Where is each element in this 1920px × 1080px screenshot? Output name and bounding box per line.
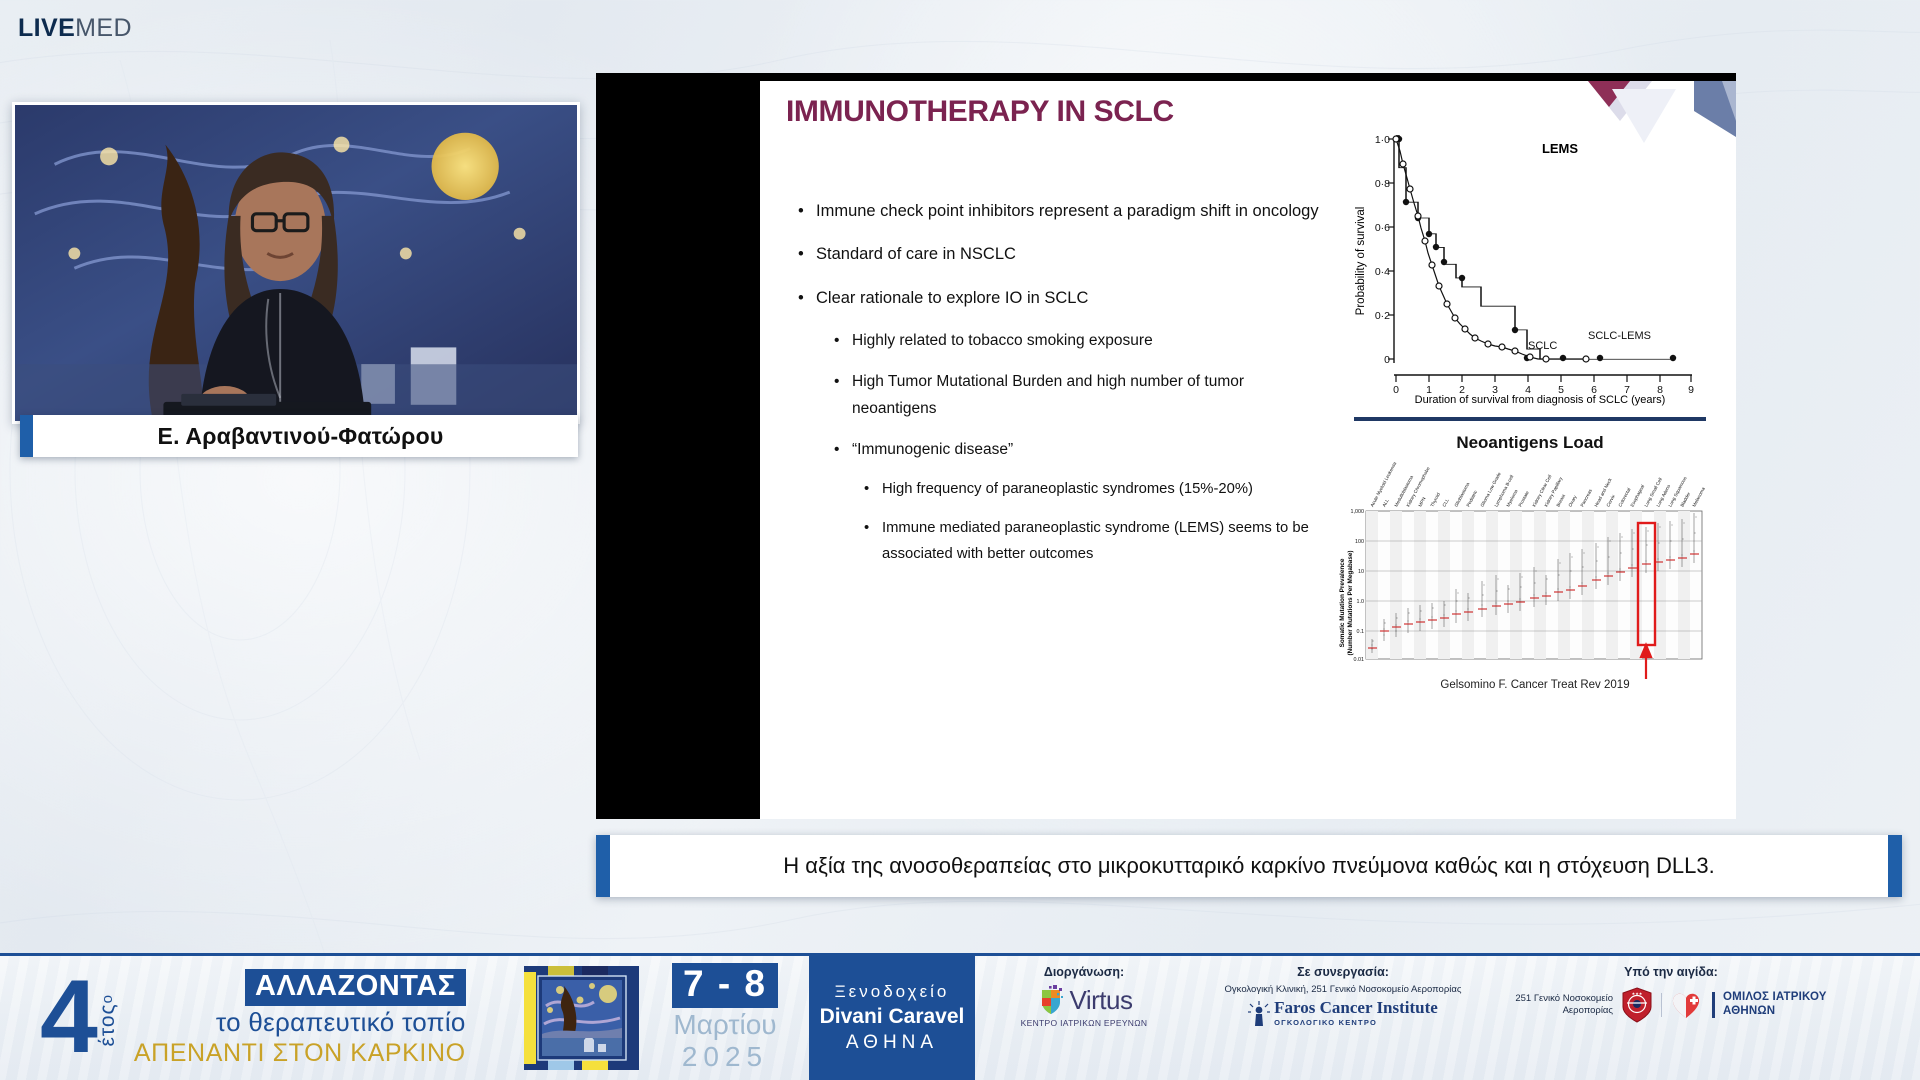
edition-word: έτοςο: [96, 990, 120, 1047]
event-date: 7 - 8 Μαρτίου 2025: [657, 963, 793, 1073]
svg-text:MPN: MPN: [1417, 496, 1426, 507]
km-markers-sclc: [1393, 136, 1589, 362]
edition-word-text: έτος: [96, 1003, 119, 1046]
video-frame: [15, 105, 577, 424]
km-ytick: 0·8: [1375, 178, 1390, 190]
bullet-item: Immune mediated paraneoplastic syndrome …: [860, 515, 1324, 568]
speaker-video[interactable]: [12, 102, 580, 424]
svg-text:★★★: ★★★: [1632, 991, 1643, 996]
km-y-axis-label: Probability of survival: [1355, 207, 1367, 316]
event-date-month: Μαρτίου: [657, 1009, 793, 1041]
slide-bullet-list: Immune check point inhibitors represent …: [794, 197, 1324, 579]
km-chart-title: LEMS: [1542, 141, 1578, 156]
event-venue: Ξενοδοχείο Divani Caravel ΑΘΗΝΑ: [809, 955, 975, 1080]
km-xtick: 2: [1459, 384, 1465, 396]
km-ytick: 0·4: [1375, 266, 1390, 278]
event-title-block: ΑΛΛΑΖΟΝΤΑΣ το θεραπευτικό τοπίο ΑΠΕΝΑΝΤΙ…: [134, 969, 466, 1068]
auspices-org1-line1: 251 Γενικό Νοσοκομείο: [1515, 993, 1613, 1005]
svg-text:Melanoma: Melanoma: [1691, 486, 1706, 508]
km-xtick: 5: [1558, 384, 1564, 396]
edition-number: 4: [40, 975, 94, 1060]
svg-text:Esophageal: Esophageal: [1629, 484, 1645, 508]
name-bar-accent: [20, 415, 33, 457]
caption-text: Η αξία της ανοσοθεραπείας στο μικροκυττα…: [610, 853, 1888, 879]
faros-lighthouse-icon: [1248, 1001, 1270, 1027]
neo-ytick: 100: [1355, 539, 1364, 545]
sponsors-area: Διοργάνωση: Virtus ΚΕΝΤΡΟ ΙΑΤΡΙΚΩΝ ΕΡΕΥΝ…: [975, 955, 1920, 1080]
bullet-item: Immune check point inhibitors represent …: [794, 197, 1324, 226]
neo-ytick: 0.1: [1357, 629, 1365, 635]
bullet-item: “Immunogenic disease”: [830, 436, 1324, 464]
brand-med: MED: [75, 14, 132, 42]
km-xtick: 4: [1525, 384, 1531, 396]
bullet-item: Highly related to tobacco smoking exposu…: [830, 327, 1324, 355]
auspices-org2-line2: ΑΘΗΝΩΝ: [1723, 1005, 1827, 1018]
caption-accent-left: [596, 835, 610, 897]
livemed-logo: LIVEMED: [18, 14, 132, 43]
svg-text:Prostate: Prostate: [1517, 490, 1530, 508]
svg-text:Ovary: Ovary: [1567, 494, 1577, 508]
starry-night-artwork: [524, 966, 639, 1070]
auspices-org1-line2: Αεροπορίας: [1515, 1005, 1613, 1017]
neo-ytick: 1,000: [1351, 509, 1365, 515]
km-annotation-sclc-lems: SCLC-LEMS: [1588, 330, 1651, 342]
event-footer: 4 έτοςο ΑΛΛΑΖΟΝΤΑΣ το θεραπευτικό τοπίο …: [0, 953, 1920, 1080]
hellenic-air-force-emblem-icon: ★★★: [1621, 987, 1653, 1023]
km-series-sclc: [1396, 139, 1586, 359]
bullet-item: High frequency of paraneoplastic syndrom…: [860, 476, 1324, 502]
bullet-item: High Tumor Mutational Burden and high nu…: [830, 368, 1324, 423]
km-markers-sclc-lems: [1396, 136, 1676, 361]
event-title-line2: το θεραπευτικό τοπίο: [134, 1007, 466, 1038]
event-date-days: 7 - 8: [672, 963, 778, 1008]
neo-category-labels: Acute Myeloid Leukemia ALL Medulloblasto…: [1369, 461, 1706, 508]
event-title-line1: ΑΛΛΑΖΟΝΤΑΣ: [245, 969, 466, 1006]
km-xtick: 1: [1426, 384, 1432, 396]
svg-text:Pediatric: Pediatric: [1465, 489, 1478, 508]
svg-text:Cervix: Cervix: [1605, 493, 1616, 507]
event-title-line3: ΑΠΕΝΑΝΤΙ ΣΤΟΝ ΚΑΡΚΙΝΟ: [134, 1039, 466, 1068]
caption-accent-right: [1888, 835, 1902, 897]
km-ytick: 0·2: [1375, 310, 1390, 322]
kaplan-meier-chart: LEMS Probability of survival Duration of…: [1350, 131, 1710, 409]
venue-label: Ξενοδοχείο: [835, 982, 950, 1002]
km-xtick: 7: [1624, 384, 1630, 396]
slide-title: IMMUNOTHERAPY IN SCLC: [786, 95, 1174, 129]
auspices-block: Υπό την αιγίδα: 251 Γενικό Νοσοκομείο Αε…: [1501, 965, 1841, 1023]
organiser-label: Διοργάνωση:: [1044, 965, 1124, 979]
km-xtick: 6: [1591, 384, 1597, 396]
session-caption-bar: Η αξία της ανοσοθεραπείας στο μικροκυττα…: [596, 835, 1902, 897]
km-xtick: 3: [1492, 384, 1498, 396]
svg-text:Kidney Chromophobe: Kidney Chromophobe: [1405, 466, 1430, 508]
svg-text:ALL: ALL: [1381, 498, 1389, 508]
auspices-label: Υπό την αιγίδα:: [1624, 965, 1718, 979]
auspices-org2-line1: ΟΜΙΛΟΣ ΙΑΤΡΙΚΟΥ: [1723, 991, 1827, 1004]
collaboration-sub: ΟΓΚΟΛΟΓΙΚΟ ΚΕΝΤΡΟ: [1274, 1018, 1438, 1027]
collaboration-name: Faros Cancer Institute: [1274, 998, 1438, 1018]
svg-text:Bladder: Bladder: [1679, 491, 1691, 508]
svg-text:Thyroid: Thyroid: [1429, 491, 1441, 507]
slide-stage[interactable]: IMMUNOTHERAPY IN SCLC Immune check point…: [596, 73, 1736, 819]
neo-y-axis-label: Somatic Mutation Prevalence: [1339, 558, 1346, 647]
neo-y-axis-label-2: (Number Mutations Per Megabase): [1347, 550, 1354, 655]
km-annotation-sclc: SCLC: [1528, 340, 1557, 352]
collaboration-label: Σε συνεργασία:: [1297, 965, 1389, 979]
neoantigens-load-chart: Somatic Mutation Prevalence (Number Muta…: [1332, 453, 1712, 683]
svg-text:Breast: Breast: [1555, 493, 1566, 508]
km-chart-underline: [1354, 417, 1706, 421]
organiser-sub: ΚΕΝΤΡΟ ΙΑΤΡΙΚΩΝ ΕΡΕΥΝΩΝ: [1021, 1018, 1148, 1028]
neo-ytick: 1.0: [1357, 599, 1365, 605]
km-xtick: 0: [1393, 384, 1399, 396]
organiser-name: Virtus: [1070, 985, 1133, 1016]
bullet-item: Standard of care in NSCLC: [794, 240, 1324, 269]
slide-citation: Gelsomino F. Cancer Treat Rev 2019: [1350, 679, 1720, 691]
iatriko-athinon-heart-icon: [1670, 991, 1704, 1019]
km-ytick: 1·0: [1375, 134, 1390, 146]
collaboration-block: Σε συνεργασία: Ογκολογική Κλινική, 251 Γ…: [1193, 965, 1493, 1028]
event-date-year: 2025: [657, 1041, 793, 1073]
svg-text:Pancreas: Pancreas: [1579, 488, 1593, 508]
neo-ytick: 10: [1358, 569, 1364, 575]
bullet-item: Clear rationale to explore IO in SCLC: [794, 284, 1324, 313]
virtus-logo-icon: [1036, 984, 1066, 1018]
km-xtick: 9: [1688, 384, 1694, 396]
km-xtick: 8: [1657, 384, 1663, 396]
event-logo: 4 έτοςο ΑΛΛΑΖΟΝΤΑΣ το θεραπευτικό τοπίο …: [0, 956, 520, 1080]
neoantigens-chart-title: Neoantigens Load: [1350, 433, 1710, 453]
venue-name: Divani Caravel: [820, 1005, 965, 1029]
brand-live: LIVE: [18, 14, 75, 42]
organiser-block: Διοργάνωση: Virtus ΚΕΝΤΡΟ ΙΑΤΡΙΚΩΝ ΕΡΕΥΝ…: [989, 965, 1179, 1028]
speaker-name: Ε. Αραβαντινού-Φατώρου: [33, 423, 578, 450]
speaker-name-bar: Ε. Αραβαντινού-Φατώρου: [20, 415, 578, 457]
collaboration-line1: Ογκολογική Κλινική, 251 Γενικό Νοσοκομεί…: [1225, 984, 1462, 996]
km-ytick: 0: [1384, 354, 1390, 366]
svg-text:CLL: CLL: [1441, 498, 1450, 508]
venue-city: ΑΘΗΝΑ: [846, 1032, 938, 1054]
edition-superscript: ο: [99, 994, 116, 1003]
neo-ytick: 0.01: [1354, 657, 1365, 663]
presentation-slide: IMMUNOTHERAPY IN SCLC Immune check point…: [760, 81, 1736, 819]
km-ytick: 0·6: [1375, 222, 1390, 234]
